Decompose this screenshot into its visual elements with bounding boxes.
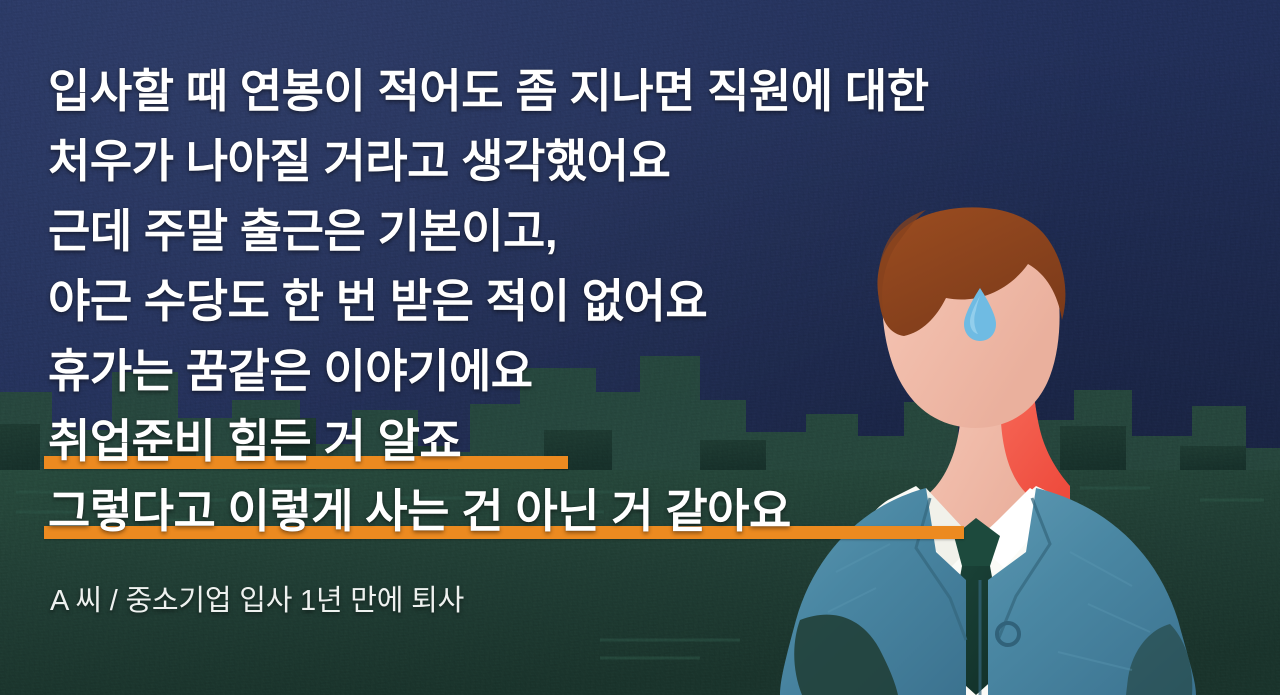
quote-line-1: 입사할 때 연봉이 적어도 좀 지나면 직원에 대한 <box>48 56 1178 126</box>
quote-line-2: 처우가 나아질 거라고 생각했어요 <box>48 126 1178 196</box>
quote-text-block: 입사할 때 연봉이 적어도 좀 지나면 직원에 대한 처우가 나아질 거라고 생… <box>48 56 1178 546</box>
attribution-text: A 씨 / 중소기업 입사 1년 만에 퇴사 <box>50 580 464 622</box>
quote-line-1-text: 입사할 때 연봉이 적어도 좀 지나면 직원에 대한 <box>48 65 929 117</box>
quote-line-5: 휴가는 꿈같은 이야기에요 <box>48 336 1178 406</box>
quote-card: 입사할 때 연봉이 적어도 좀 지나면 직원에 대한 처우가 나아질 거라고 생… <box>0 0 1280 695</box>
quote-line-6-highlighted: 취업준비 힘든 거 알죠 <box>48 406 1178 476</box>
quote-line-6-text: 취업준비 힘든 거 알죠 <box>48 415 461 467</box>
quote-line-3: 근데 주말 출근은 기본이고, <box>48 196 1178 266</box>
quote-line-5-text: 휴가는 꿈같은 이야기에요 <box>48 345 533 397</box>
quote-line-4: 야근 수당도 한 번 받은 적이 없어요 <box>48 266 1178 336</box>
quote-line-3-text: 근데 주말 출근은 기본이고, <box>48 205 557 257</box>
quote-line-2-text: 처우가 나아질 거라고 생각했어요 <box>48 135 670 187</box>
quote-line-7-highlighted: 그렇다고 이렇게 사는 건 아닌 거 같아요 <box>48 476 1178 546</box>
quote-line-7-text: 그렇다고 이렇게 사는 건 아닌 거 같아요 <box>48 485 791 537</box>
quote-line-4-text: 야근 수당도 한 번 받은 적이 없어요 <box>48 275 707 327</box>
